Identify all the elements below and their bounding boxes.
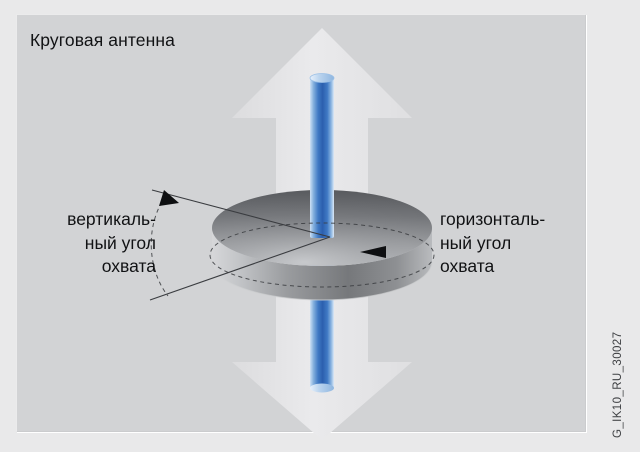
antenna-rod-upper [310,74,334,239]
horizontal-angle-label: горизонталь- ный угол охвата [440,208,615,279]
reference-code-text: G_IK10_RU_30027 [612,332,624,438]
figure-root: Круговая антенна вертикаль- ный угол охв… [0,0,640,452]
figure-title: Круговая антенна [30,30,175,51]
reference-code: G_IK10_RU_30027 [616,298,632,438]
vertical-angle-label: вертикаль- ный угол охвата [20,208,156,279]
